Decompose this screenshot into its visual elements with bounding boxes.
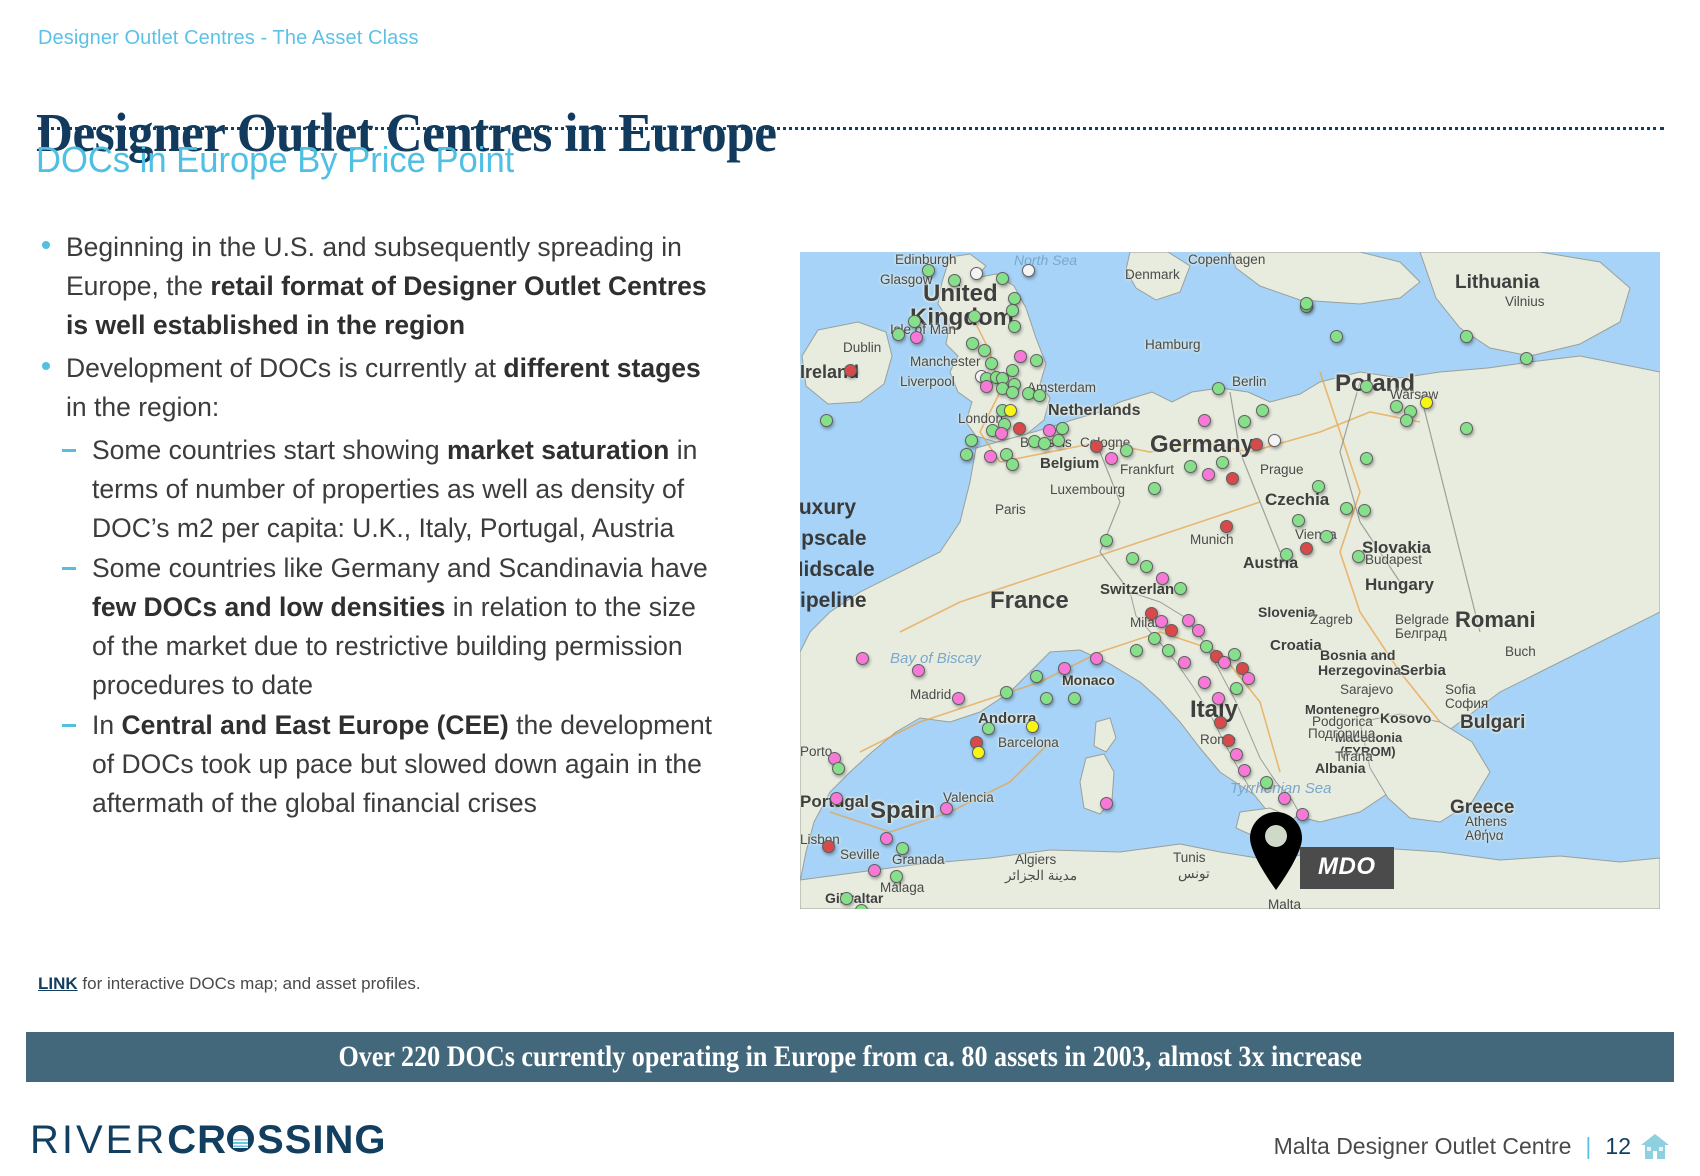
bullet-dash-icon — [62, 449, 76, 452]
key-takeaway-banner: Over 220 DOCs currently operating in Eur… — [26, 1032, 1674, 1082]
bullet-text: in the region: — [66, 392, 219, 422]
doc-marker[interactable] — [844, 364, 857, 377]
doc-marker[interactable] — [940, 802, 953, 815]
city-label: Sarajevo — [1340, 682, 1393, 697]
doc-marker[interactable] — [960, 448, 973, 461]
city-label: Madrid — [910, 687, 951, 702]
footnote-text: for interactive DOCs map; and asset prof… — [78, 974, 421, 993]
rivercrossing-logo: RIVER CR SSING — [30, 1118, 387, 1163]
doc-marker[interactable] — [1198, 676, 1211, 689]
city-label: Manchester — [910, 354, 981, 369]
doc-marker[interactable] — [1300, 297, 1313, 310]
city-label: Hamburg — [1145, 337, 1201, 352]
doc-marker[interactable] — [1400, 414, 1413, 427]
city-label: Paris — [995, 502, 1026, 517]
doc-marker[interactable] — [972, 746, 985, 759]
country-label: Bulgari — [1460, 712, 1525, 734]
legend-row-midscale[interactable]: Midscale — [800, 554, 875, 585]
logo-bold-post: SSING — [257, 1118, 386, 1163]
doc-marker[interactable] — [1330, 330, 1343, 343]
doc-marker[interactable] — [1226, 472, 1239, 485]
doc-marker[interactable] — [1212, 692, 1225, 705]
country-label: Netherlands — [1048, 402, 1140, 420]
doc-marker[interactable] — [1390, 400, 1403, 413]
city-label: Denmark — [1125, 267, 1180, 282]
bullet-emphasis: Central and East Europe (CEE) — [121, 710, 508, 740]
doc-marker[interactable] — [1038, 437, 1051, 450]
doc-marker[interactable] — [1022, 264, 1035, 277]
doc-marker[interactable] — [1198, 414, 1211, 427]
doc-marker[interactable] — [1340, 502, 1353, 515]
doc-marker[interactable] — [1013, 422, 1026, 435]
footer-meta: Malta Designer Outlet Centre | 12 — [1274, 1132, 1670, 1160]
logo-bold-pre: CR — [167, 1118, 227, 1163]
country-label: France — [990, 587, 1069, 615]
country-label: Belgium — [1040, 455, 1099, 472]
doc-marker[interactable] — [1184, 460, 1197, 473]
doc-marker[interactable] — [984, 450, 997, 463]
city-label: София — [1445, 696, 1488, 711]
country-label: Kosovo — [1380, 710, 1431, 726]
doc-marker[interactable] — [1202, 468, 1215, 481]
country-label: Slovenia — [1258, 604, 1316, 620]
doc-marker[interactable] — [1068, 692, 1081, 705]
country-label: Germany — [1150, 431, 1254, 459]
doc-marker[interactable] — [1228, 648, 1241, 661]
legend-row-luxury[interactable]: Luxury — [800, 492, 875, 523]
eyebrow-label: Designer Outlet Centres - The Asset Clas… — [38, 27, 419, 50]
doc-marker[interactable] — [965, 434, 978, 447]
doc-marker[interactable] — [1165, 624, 1178, 637]
doc-marker[interactable] — [1052, 434, 1065, 447]
doc-marker[interactable] — [980, 380, 993, 393]
city-label: Luxembourg — [1050, 482, 1125, 497]
doc-marker[interactable] — [966, 337, 979, 350]
doc-marker[interactable] — [1090, 440, 1103, 453]
city-label: Buch — [1505, 644, 1536, 659]
city-label: Sofia — [1445, 682, 1476, 697]
country-label: Lithuania — [1455, 272, 1539, 294]
doc-marker[interactable] — [1100, 797, 1113, 810]
country-label: Czechia — [1265, 490, 1329, 510]
legend-label: Luxury — [800, 496, 856, 520]
country-label: Monaco — [1062, 672, 1115, 688]
city-label: Budapest — [1365, 552, 1422, 567]
city-label: Белград — [1395, 626, 1447, 641]
bullet-dash-icon — [62, 724, 76, 727]
city-label: Frankfurt — [1120, 462, 1174, 477]
city-label: Berlin — [1232, 374, 1267, 389]
doc-marker[interactable] — [1105, 452, 1118, 465]
city-label: Prague — [1260, 462, 1304, 477]
doc-marker[interactable] — [892, 328, 905, 341]
doc-marker[interactable] — [1230, 748, 1243, 761]
country-label: Hungary — [1365, 575, 1434, 595]
doc-marker[interactable] — [982, 722, 995, 735]
country-label: Herzegovina — [1318, 662, 1401, 678]
city-label: Подгорица — [1308, 726, 1375, 741]
city-label: Algiers — [1015, 852, 1056, 867]
city-label: Seville — [840, 847, 880, 862]
bullet-emphasis: market saturation — [447, 435, 669, 465]
city-label: Liverpool — [900, 374, 955, 389]
doc-marker[interactable] — [832, 762, 845, 775]
doc-marker[interactable] — [910, 331, 923, 344]
doc-marker[interactable] — [1140, 560, 1153, 573]
doc-marker[interactable] — [948, 274, 961, 287]
doc-marker[interactable] — [1320, 530, 1333, 543]
legend-row-pipeline[interactable]: Pipeline — [800, 585, 875, 616]
bullet-dot-icon — [42, 241, 50, 249]
city-label: Athens — [1465, 814, 1507, 829]
doc-marker[interactable] — [1300, 542, 1313, 555]
doc-marker[interactable] — [1162, 644, 1175, 657]
country-label: Gibraltar — [825, 890, 883, 906]
doc-marker[interactable] — [822, 840, 835, 853]
doc-marker[interactable] — [1100, 534, 1113, 547]
document-name: Malta Designer Outlet Centre — [1274, 1133, 1572, 1160]
city-label: Zagreb — [1310, 612, 1353, 627]
sea-label: Bay of Biscay — [890, 650, 981, 667]
doc-marker[interactable] — [880, 832, 893, 845]
doc-marker[interactable] — [856, 652, 869, 665]
country-label: Spain — [870, 797, 935, 825]
city-label: Munich — [1190, 532, 1234, 547]
doc-marker[interactable] — [1030, 670, 1043, 683]
bullet-text: Development of DOCs is currently at — [66, 353, 503, 383]
city-label: Tunis — [1173, 850, 1206, 865]
footer-separator: | — [1585, 1133, 1591, 1160]
doc-marker[interactable] — [1156, 572, 1169, 585]
country-label: Croatia — [1270, 637, 1322, 654]
doc-marker[interactable] — [1004, 404, 1017, 417]
home-icon[interactable] — [1640, 1132, 1670, 1160]
doc-marker[interactable] — [1242, 672, 1255, 685]
doc-marker[interactable] — [1192, 624, 1205, 637]
doc-marker[interactable] — [996, 272, 1009, 285]
legend-label: Upscale — [800, 527, 867, 551]
doc-marker[interactable] — [1120, 444, 1133, 457]
map-canvas: North SeaBay of BiscayTyrrhenian Sea Uni… — [800, 252, 1660, 909]
bullet-emphasis: different stages — [503, 353, 700, 383]
bullet-emphasis: few DOCs and low densities — [92, 592, 445, 622]
europe-doc-map[interactable]: North SeaBay of BiscayTyrrhenian Sea Uni… — [800, 252, 1660, 909]
bullet-item: In Central and East Europe (CEE) the dev… — [36, 706, 716, 823]
doc-marker[interactable] — [970, 267, 983, 280]
doc-marker[interactable] — [1238, 415, 1251, 428]
bullet-text: In — [92, 710, 121, 740]
city-label: Belgrade — [1395, 612, 1449, 627]
title-divider — [38, 127, 1664, 130]
doc-marker[interactable] — [1006, 386, 1019, 399]
footnote: LINK for interactive DOCs map; and asset… — [38, 974, 421, 994]
city-label: Malta — [1268, 897, 1301, 909]
logo-light-text: RIVER — [30, 1118, 167, 1163]
doc-marker[interactable] — [1026, 720, 1039, 733]
bullet-list: Beginning in the U.S. and subsequently s… — [36, 228, 716, 824]
doc-marker[interactable] — [868, 864, 881, 877]
doc-marker[interactable] — [1126, 552, 1139, 565]
doc-marker[interactable] — [1460, 330, 1473, 343]
mdo-label: MDO — [1300, 847, 1394, 889]
doc-marker[interactable] — [1006, 458, 1019, 471]
doc-marker[interactable] — [1212, 382, 1225, 395]
doc-marker[interactable] — [1230, 682, 1243, 695]
doc-marker[interactable] — [1292, 514, 1305, 527]
page-subtitle: DOCs in Europe By Price Point — [36, 139, 514, 181]
country-label: Bosnia and — [1320, 647, 1395, 663]
doc-marker[interactable] — [1250, 438, 1263, 451]
bullet-dash-icon — [62, 567, 76, 570]
city-label: Barcelona — [998, 735, 1059, 750]
doc-marker[interactable] — [1178, 656, 1191, 669]
city-label: Tirana — [1335, 749, 1373, 764]
doc-marker[interactable] — [1312, 480, 1325, 493]
doc-marker[interactable] — [1278, 792, 1291, 805]
doc-marker[interactable] — [1222, 734, 1235, 747]
map-legend: LuxuryUpscaleMidscalePipeline — [800, 492, 875, 616]
bullet-item: Development of DOCs is currently at diff… — [36, 349, 716, 427]
doc-marker[interactable] — [1280, 548, 1293, 561]
doc-marker[interactable] — [1148, 482, 1161, 495]
doc-marker[interactable] — [1420, 396, 1433, 409]
doc-marker[interactable] — [1174, 582, 1187, 595]
doc-marker[interactable] — [1360, 452, 1373, 465]
doc-marker[interactable] — [896, 842, 909, 855]
doc-marker[interactable] — [1256, 404, 1269, 417]
doc-marker[interactable] — [995, 427, 1008, 440]
legend-row-upscale[interactable]: Upscale — [800, 523, 875, 554]
doc-marker[interactable] — [1268, 434, 1281, 447]
doc-marker[interactable] — [1030, 354, 1043, 367]
country-label: Switzerland — [1100, 581, 1183, 598]
bullet-item: Beginning in the U.S. and subsequently s… — [36, 228, 716, 345]
legend-label: Pipeline — [800, 589, 867, 613]
interactive-map-link[interactable]: LINK — [38, 974, 78, 993]
country-label: Romani — [1455, 607, 1536, 633]
legend-label: Midscale — [800, 558, 875, 582]
doc-marker[interactable] — [1033, 389, 1046, 402]
city-label: Vilnius — [1505, 294, 1545, 309]
country-label: Serbia — [1400, 662, 1446, 679]
banner-text: Over 220 DOCs currently operating in Eur… — [338, 1040, 1361, 1074]
doc-marker[interactable] — [1260, 776, 1273, 789]
doc-marker[interactable] — [820, 414, 833, 427]
city-label: Dublin — [843, 340, 881, 355]
doc-marker[interactable] — [890, 870, 903, 883]
doc-marker[interactable] — [1006, 364, 1019, 377]
doc-marker[interactable] — [1520, 352, 1533, 365]
bullet-item: Some countries like Germany and Scandina… — [36, 549, 716, 705]
doc-marker[interactable] — [1148, 632, 1161, 645]
doc-marker[interactable] — [985, 357, 998, 370]
bullet-dot-icon — [42, 362, 50, 370]
doc-marker[interactable] — [908, 315, 921, 328]
doc-marker[interactable] — [922, 264, 935, 277]
doc-marker[interactable] — [1008, 292, 1021, 305]
doc-marker[interactable] — [1358, 504, 1371, 517]
doc-marker[interactable] — [912, 664, 925, 677]
city-label: مدينة الجزائر — [1005, 868, 1077, 884]
doc-marker[interactable] — [1130, 644, 1143, 657]
doc-marker[interactable] — [968, 310, 981, 323]
doc-marker[interactable] — [952, 692, 965, 705]
doc-marker[interactable] — [1058, 662, 1071, 675]
doc-marker[interactable] — [1238, 764, 1251, 777]
doc-marker[interactable] — [1006, 304, 1019, 317]
doc-marker[interactable] — [840, 892, 853, 905]
mdo-location-pin-icon — [1250, 812, 1302, 890]
city-label: Málaga — [880, 880, 924, 895]
doc-marker[interactable] — [1214, 716, 1227, 729]
doc-marker[interactable] — [1000, 686, 1013, 699]
doc-marker[interactable] — [1090, 652, 1103, 665]
doc-marker[interactable] — [1216, 456, 1229, 469]
doc-marker[interactable] — [1008, 320, 1021, 333]
page-number: 12 — [1605, 1133, 1631, 1160]
doc-marker[interactable] — [1040, 692, 1053, 705]
doc-marker[interactable] — [1220, 520, 1233, 533]
bullet-text: Some countries like Germany and Scandina… — [92, 553, 708, 583]
city-label: Copenhagen — [1188, 252, 1265, 267]
bullet-item: Some countries start showing market satu… — [36, 431, 716, 548]
doc-marker[interactable] — [1460, 422, 1473, 435]
city-label: تونس — [1178, 866, 1210, 882]
doc-marker[interactable] — [1014, 350, 1027, 363]
doc-marker[interactable] — [1352, 550, 1365, 563]
bullet-text: Some countries start showing — [92, 435, 447, 465]
city-label: Αθήνα — [1465, 828, 1504, 843]
doc-marker[interactable] — [830, 792, 843, 805]
doc-marker[interactable] — [978, 344, 991, 357]
logo-bold-text: CR SSING — [167, 1118, 386, 1163]
doc-marker[interactable] — [1360, 380, 1373, 393]
